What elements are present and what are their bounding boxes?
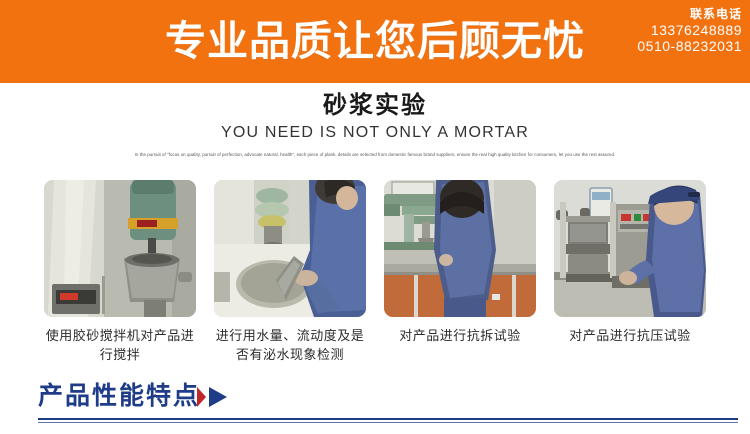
double-arrow-icon <box>196 386 242 408</box>
divider-rule <box>38 418 738 423</box>
photo-cell: 对产品进行抗拆试验 <box>384 180 536 364</box>
compressive-strength-test-photo <box>554 180 706 317</box>
section-title-cn: 砂浆实验 <box>0 92 750 120</box>
flexural-strength-test-photo <box>384 180 536 317</box>
contact-info: 联系电话 13376248889 0510-88232031 <box>592 6 742 54</box>
photo-cell: 使用胶砂搅拌机对产品进行搅拌 <box>44 180 196 364</box>
photo-cell: 对产品进行抗压试验 <box>554 180 706 364</box>
bottom-banner-title: 产品性能特点 <box>38 380 200 412</box>
photo-gallery: 使用胶砂搅拌机对产品进行搅拌 <box>0 180 750 364</box>
section-description: In the pursuit of "focus on quality, pur… <box>115 150 635 159</box>
mortar-mixer-machine-photo <box>44 180 196 317</box>
flow-table-water-test-photo <box>214 180 366 317</box>
contact-label: 联系电话 <box>592 6 742 22</box>
photo-caption: 对产品进行抗压试验 <box>554 326 706 345</box>
photo-cell: 进行用水量、流动度及是否有泌水现象检测 <box>214 180 366 364</box>
contact-landline: 0510-88232031 <box>592 38 742 54</box>
header-banner: 专业品质让您后顾无忧 联系电话 13376248889 0510-8823203… <box>0 0 750 83</box>
bottom-banner: 产品性能特点 <box>0 378 750 434</box>
section-title-en: YOU NEED IS NOT ONLY A MORTAR <box>0 122 750 144</box>
divider-rule-thin <box>38 422 738 423</box>
photo-caption: 进行用水量、流动度及是否有泌水现象检测 <box>214 326 366 364</box>
section-heading: 砂浆实验 YOU NEED IS NOT ONLY A MORTAR In th… <box>0 92 750 159</box>
photo-caption: 对产品进行抗拆试验 <box>384 326 536 345</box>
photo-caption: 使用胶砂搅拌机对产品进行搅拌 <box>44 326 196 364</box>
contact-mobile: 13376248889 <box>592 22 742 38</box>
